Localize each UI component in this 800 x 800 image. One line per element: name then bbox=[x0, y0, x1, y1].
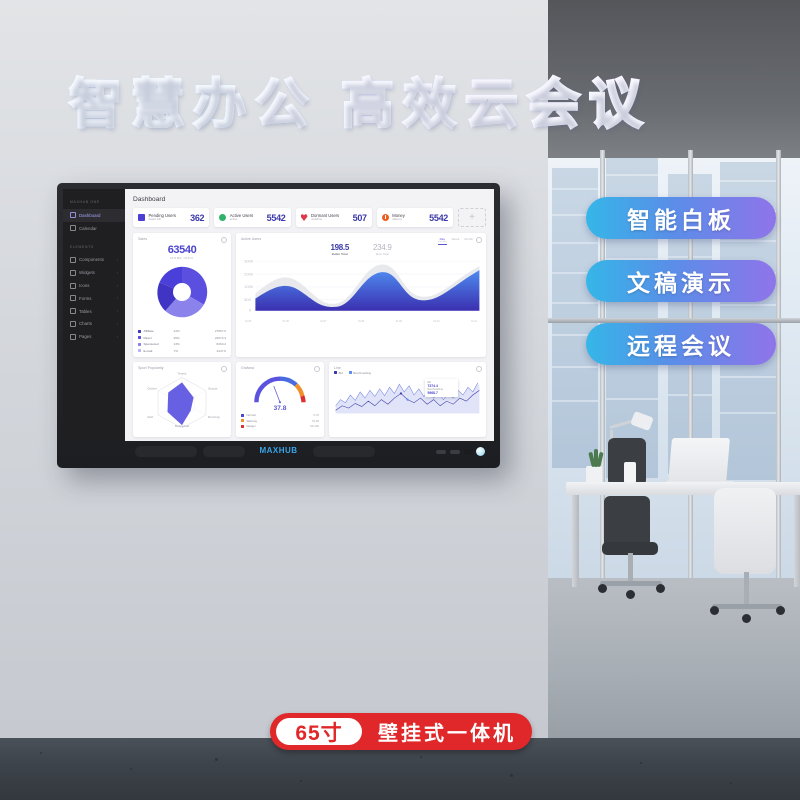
legend-percent: 36% bbox=[174, 336, 190, 340]
legend-swatch bbox=[241, 414, 244, 417]
sidebar-item-label: Tables bbox=[79, 309, 92, 314]
chevron-right-icon: › bbox=[117, 271, 118, 275]
gauge-legend-normal: Normal 0-70 bbox=[241, 413, 319, 417]
legend-value: 4447.8 bbox=[217, 349, 226, 353]
window-mullion bbox=[776, 150, 781, 580]
tab-label: Month bbox=[464, 237, 473, 241]
legend-swatch bbox=[138, 343, 141, 346]
feature-pill-remote-meeting[interactable]: 远程会议 bbox=[586, 323, 776, 365]
chair-caster bbox=[710, 606, 719, 615]
chair-caster bbox=[776, 606, 785, 615]
legend-swatch bbox=[138, 349, 141, 352]
card-title: Line bbox=[334, 366, 481, 370]
total-value: 198.5 bbox=[330, 243, 349, 252]
sidebar-item-forms[interactable]: Forms › bbox=[63, 292, 125, 305]
legend-item: Sponsored 13% 8260.2 bbox=[138, 342, 226, 346]
charts-icon bbox=[70, 321, 76, 327]
charts-row-bottom: Sport Popularity bbox=[133, 362, 486, 437]
legend-value: 27857.6 bbox=[215, 329, 226, 333]
sidebar-item-label: Forms bbox=[79, 296, 91, 301]
feature-pill-label: 智能白板 bbox=[627, 201, 735, 235]
tooltip-value-benchmarking: 5968.7 bbox=[428, 391, 456, 395]
sidebar-item-dashboard[interactable]: Dashboard bbox=[63, 209, 125, 222]
plant-pot bbox=[586, 466, 602, 483]
stat-value: 5542 bbox=[267, 213, 286, 223]
power-indicator[interactable] bbox=[476, 447, 485, 456]
tab-month[interactable]: Month bbox=[464, 237, 473, 245]
port-usb-2 bbox=[450, 450, 460, 454]
port-usb-1 bbox=[436, 450, 446, 454]
svg-text:Basketball: Basketball bbox=[175, 423, 189, 427]
legend-percent: 44% bbox=[174, 329, 190, 333]
stat-card-pending-users[interactable]: Pending Users Await. Fltr 362 bbox=[133, 208, 209, 227]
legend-label: Affiliate bbox=[144, 329, 174, 333]
svg-text:Golf: Golf bbox=[147, 414, 153, 418]
legend-item: E-mail 7% 4447.8 bbox=[138, 349, 226, 353]
svg-text:1000: 1000 bbox=[244, 286, 253, 290]
card-title: Sales bbox=[138, 237, 226, 241]
dashboard-content: Dashboard Pending Users Await. Fltr 362 bbox=[125, 189, 494, 441]
chevron-right-icon: › bbox=[117, 258, 118, 262]
speaker-grille-left bbox=[135, 446, 197, 457]
legend-item: Affiliate 44% 27857.6 bbox=[138, 329, 226, 333]
chair-caster bbox=[742, 614, 751, 623]
svg-text:Tennis: Tennis bbox=[178, 371, 187, 375]
x-tick: 01-10 bbox=[433, 320, 439, 323]
product-type-label: 壁挂式一体机 bbox=[362, 717, 532, 746]
gear-icon[interactable] bbox=[221, 237, 227, 243]
stat-card-dormant-users[interactable]: Dormant Users undefine 507 bbox=[296, 208, 372, 227]
stat-card-row: Pending Users Await. Fltr 362 Active Use… bbox=[133, 208, 486, 227]
desk-leg bbox=[572, 495, 579, 587]
sport-popularity-card: Sport Popularity bbox=[133, 362, 231, 437]
circle-icon bbox=[219, 214, 226, 221]
feature-pill-label: 文稿演示 bbox=[627, 264, 735, 298]
svg-text:500: 500 bbox=[244, 298, 251, 302]
gauge-legend-danger: Danger 90-100 bbox=[241, 424, 319, 428]
tab-sublabel: statistics bbox=[438, 241, 446, 243]
total-butler: 198.5 Butler Total bbox=[330, 243, 349, 256]
add-card-button[interactable]: + bbox=[458, 208, 486, 227]
white-chair-back bbox=[714, 488, 776, 574]
sidebar-item-label: Charts bbox=[79, 321, 92, 326]
gear-icon[interactable] bbox=[476, 366, 482, 372]
total-flow: 234.9 Flow Total bbox=[373, 243, 392, 256]
svg-text:2000: 2000 bbox=[244, 273, 253, 277]
tab-label: Week bbox=[452, 237, 460, 241]
legend-value: 8260.2 bbox=[217, 342, 226, 346]
legend-label: E-mail bbox=[144, 349, 174, 353]
sidebar-item-label: Widgets bbox=[79, 270, 95, 275]
totals-row: 198.5 Butler Total 234.9 Flow Total bbox=[241, 243, 481, 256]
svg-text:Running: Running bbox=[208, 414, 220, 418]
x-tick: 01-07 bbox=[320, 320, 326, 323]
legend-percent: 13% bbox=[174, 342, 190, 346]
display-screen: MAXHUB ONE Dashboard Calendar ELEMENTS C… bbox=[63, 189, 494, 441]
forms-icon bbox=[70, 295, 76, 301]
stat-card-label: Pending Users Await. Fltr bbox=[149, 213, 176, 223]
sidebar-brand: MAXHUB ONE bbox=[63, 196, 125, 209]
x-axis-labels: 01-05 01-06 01-07 01-08 01-09 01-10 01-1… bbox=[241, 320, 481, 323]
feature-pill-label: 远程会议 bbox=[627, 327, 735, 361]
office-chair-back bbox=[604, 496, 650, 548]
legend-percent: 7% bbox=[174, 349, 190, 353]
stat-value: 507 bbox=[353, 213, 367, 223]
legend-swatch bbox=[138, 336, 141, 339]
pages-icon bbox=[70, 334, 76, 340]
sidebar-item-label: Components bbox=[79, 257, 104, 262]
icons-icon bbox=[70, 283, 76, 289]
legend-label: Danger bbox=[247, 424, 256, 428]
legend-label: Sponsored bbox=[144, 342, 174, 346]
legend-label: Direct bbox=[144, 336, 174, 340]
stat-value: 5542 bbox=[429, 213, 448, 223]
charts-row-top: Sales 63540 MORE INFO bbox=[133, 233, 486, 357]
square-icon bbox=[138, 214, 145, 221]
widgets-icon bbox=[70, 270, 76, 276]
gauge-card: Grafana 37.8 bbox=[236, 362, 324, 437]
sales-subtitle: MORE INFO bbox=[138, 256, 226, 260]
chair-caster bbox=[598, 584, 607, 593]
stat-sub-text: undefine bbox=[311, 218, 339, 222]
sidebar-section-header: ELEMENTS bbox=[63, 241, 125, 254]
sidebar-item-label: Pages bbox=[79, 334, 91, 339]
sales-donut-card: Sales 63540 MORE INFO bbox=[133, 233, 231, 357]
line-chart bbox=[334, 375, 481, 415]
office-floor bbox=[548, 578, 800, 738]
components-icon bbox=[70, 257, 76, 263]
speaker-grille-right bbox=[313, 446, 375, 457]
chair-caster bbox=[626, 590, 635, 599]
tab-week[interactable]: Week bbox=[452, 237, 460, 245]
sidebar-item-charts[interactable]: Charts › bbox=[63, 317, 125, 330]
chevron-right-icon: › bbox=[117, 335, 118, 339]
gear-icon[interactable] bbox=[314, 366, 320, 372]
sidebar-item-components[interactable]: Components › bbox=[63, 254, 125, 267]
record-icon bbox=[382, 214, 389, 221]
dashboard-ui: MAXHUB ONE Dashboard Calendar ELEMENTS C… bbox=[63, 189, 494, 441]
legend-range: 0-70 bbox=[313, 413, 319, 417]
headline-text: 智慧办公 高效云会议 bbox=[0, 62, 720, 138]
feature-pill-presentation[interactable]: 文稿演示 bbox=[586, 260, 776, 302]
laptop-screen bbox=[668, 438, 730, 484]
chevron-right-icon: › bbox=[117, 309, 118, 313]
x-tick: 01-09 bbox=[396, 320, 402, 323]
product-banner: 65寸 壁挂式一体机 bbox=[270, 713, 532, 750]
donut-chart bbox=[138, 262, 226, 322]
sidebar-item-label: Icons bbox=[79, 283, 90, 288]
product-marketing-image: 智慧办公 高效云会议 智能白板 文稿演示 远程会议 MAXHUB ONE Das… bbox=[0, 0, 800, 800]
svg-text:3000: 3000 bbox=[244, 260, 253, 264]
line-chart-card: Line Bid Benchmarking bbox=[329, 362, 486, 437]
home-icon bbox=[70, 212, 76, 218]
sidebar: MAXHUB ONE Dashboard Calendar ELEMENTS C… bbox=[63, 189, 125, 441]
sidebar-item-pages[interactable]: Pages › bbox=[63, 330, 125, 343]
radar-chart: Tennis Soccer Running Basketball Golf Cr… bbox=[138, 370, 226, 428]
legend-swatch bbox=[138, 330, 141, 333]
x-tick: 01-06 bbox=[283, 320, 289, 323]
gauge-legend-warning: Warning 70-90 bbox=[241, 419, 319, 423]
white-chair-base bbox=[712, 604, 782, 609]
stat-card-label: Money delivery bbox=[392, 213, 405, 223]
legend-label: Normal bbox=[247, 413, 256, 417]
sidebar-item-widgets[interactable]: Widgets › bbox=[63, 266, 125, 279]
legend-value: 22874.4 bbox=[215, 336, 226, 340]
x-tick: 01-05 bbox=[245, 320, 251, 323]
sidebar-item-label: Dashboard bbox=[79, 213, 100, 218]
sidebar-item-label: Calendar bbox=[79, 226, 97, 231]
chevron-right-icon: › bbox=[117, 322, 118, 326]
stat-sub-text: Await. Fltr bbox=[149, 218, 176, 222]
sales-value: 63540 bbox=[138, 244, 226, 256]
chevron-right-icon: › bbox=[117, 284, 118, 288]
gear-icon[interactable] bbox=[476, 237, 482, 243]
tab-day[interactable]: Day statistics bbox=[438, 237, 446, 245]
sidebar-item-icons[interactable]: Icons › bbox=[63, 279, 125, 292]
stat-card-active-users[interactable]: Active Users active 5542 bbox=[214, 208, 290, 227]
area-chart: 3000 2000 1000 500 0 bbox=[241, 256, 481, 314]
svg-text:0: 0 bbox=[249, 309, 251, 313]
x-tick: 01-11 bbox=[471, 320, 477, 323]
office-chair-base bbox=[600, 581, 662, 586]
heart-icon bbox=[301, 214, 308, 221]
stat-card-money[interactable]: Money delivery 5542 bbox=[377, 208, 453, 227]
calendar-icon bbox=[70, 225, 76, 231]
sidebar-item-calendar[interactable]: Calendar bbox=[63, 222, 125, 235]
chart-tooltip: Bid 7374.4 Benchmarking 5968.7 bbox=[425, 379, 458, 397]
screen-size-badge: 65寸 bbox=[276, 718, 362, 745]
legend-label: Warning bbox=[247, 419, 257, 423]
chevron-right-icon: › bbox=[117, 296, 118, 300]
brand-logo: MAXHUB bbox=[259, 446, 297, 455]
stat-card-label: Dormant Users undefine bbox=[311, 213, 339, 223]
sidebar-item-tables[interactable]: Tables › bbox=[63, 305, 125, 318]
chair-caster bbox=[656, 584, 665, 593]
stat-sub-text: delivery bbox=[392, 218, 405, 222]
speaker-grille-left-2 bbox=[203, 446, 245, 457]
x-tick: 01-08 bbox=[358, 320, 364, 323]
page-title: Dashboard bbox=[133, 196, 486, 203]
wall-mounted-display: MAXHUB ONE Dashboard Calendar ELEMENTS C… bbox=[57, 183, 500, 468]
office-chair-post bbox=[628, 553, 633, 583]
desk-leg bbox=[794, 495, 800, 587]
gauge-value: 37.8 bbox=[241, 405, 319, 412]
legend-range: 70-90 bbox=[312, 419, 319, 423]
port-hdmi bbox=[464, 449, 473, 455]
tables-icon bbox=[70, 308, 76, 314]
svg-text:Cricket: Cricket bbox=[147, 386, 157, 390]
white-chair-post bbox=[744, 572, 749, 606]
stat-value: 362 bbox=[190, 213, 204, 223]
feature-pill-whiteboard[interactable]: 智能白板 bbox=[586, 197, 776, 239]
total-value: 234.9 bbox=[373, 243, 392, 252]
pen-cup bbox=[624, 462, 636, 483]
legend-swatch bbox=[241, 425, 244, 428]
stat-card-label: Active Users active bbox=[230, 213, 254, 223]
active-users-area-card: Active Users Day statistics Week bbox=[236, 233, 486, 357]
display-bottom-bezel: MAXHUB bbox=[63, 441, 494, 462]
legend-item: Direct 36% 22874.4 bbox=[138, 336, 226, 340]
gauge-chart bbox=[241, 370, 319, 406]
gear-icon[interactable] bbox=[221, 366, 227, 372]
period-tabs: Day statistics Week Month bbox=[438, 237, 473, 245]
legend-range: 90-100 bbox=[310, 424, 319, 428]
svg-text:Soccer: Soccer bbox=[208, 386, 217, 390]
legend-swatch bbox=[241, 419, 244, 422]
stat-sub-text: active bbox=[230, 218, 254, 222]
